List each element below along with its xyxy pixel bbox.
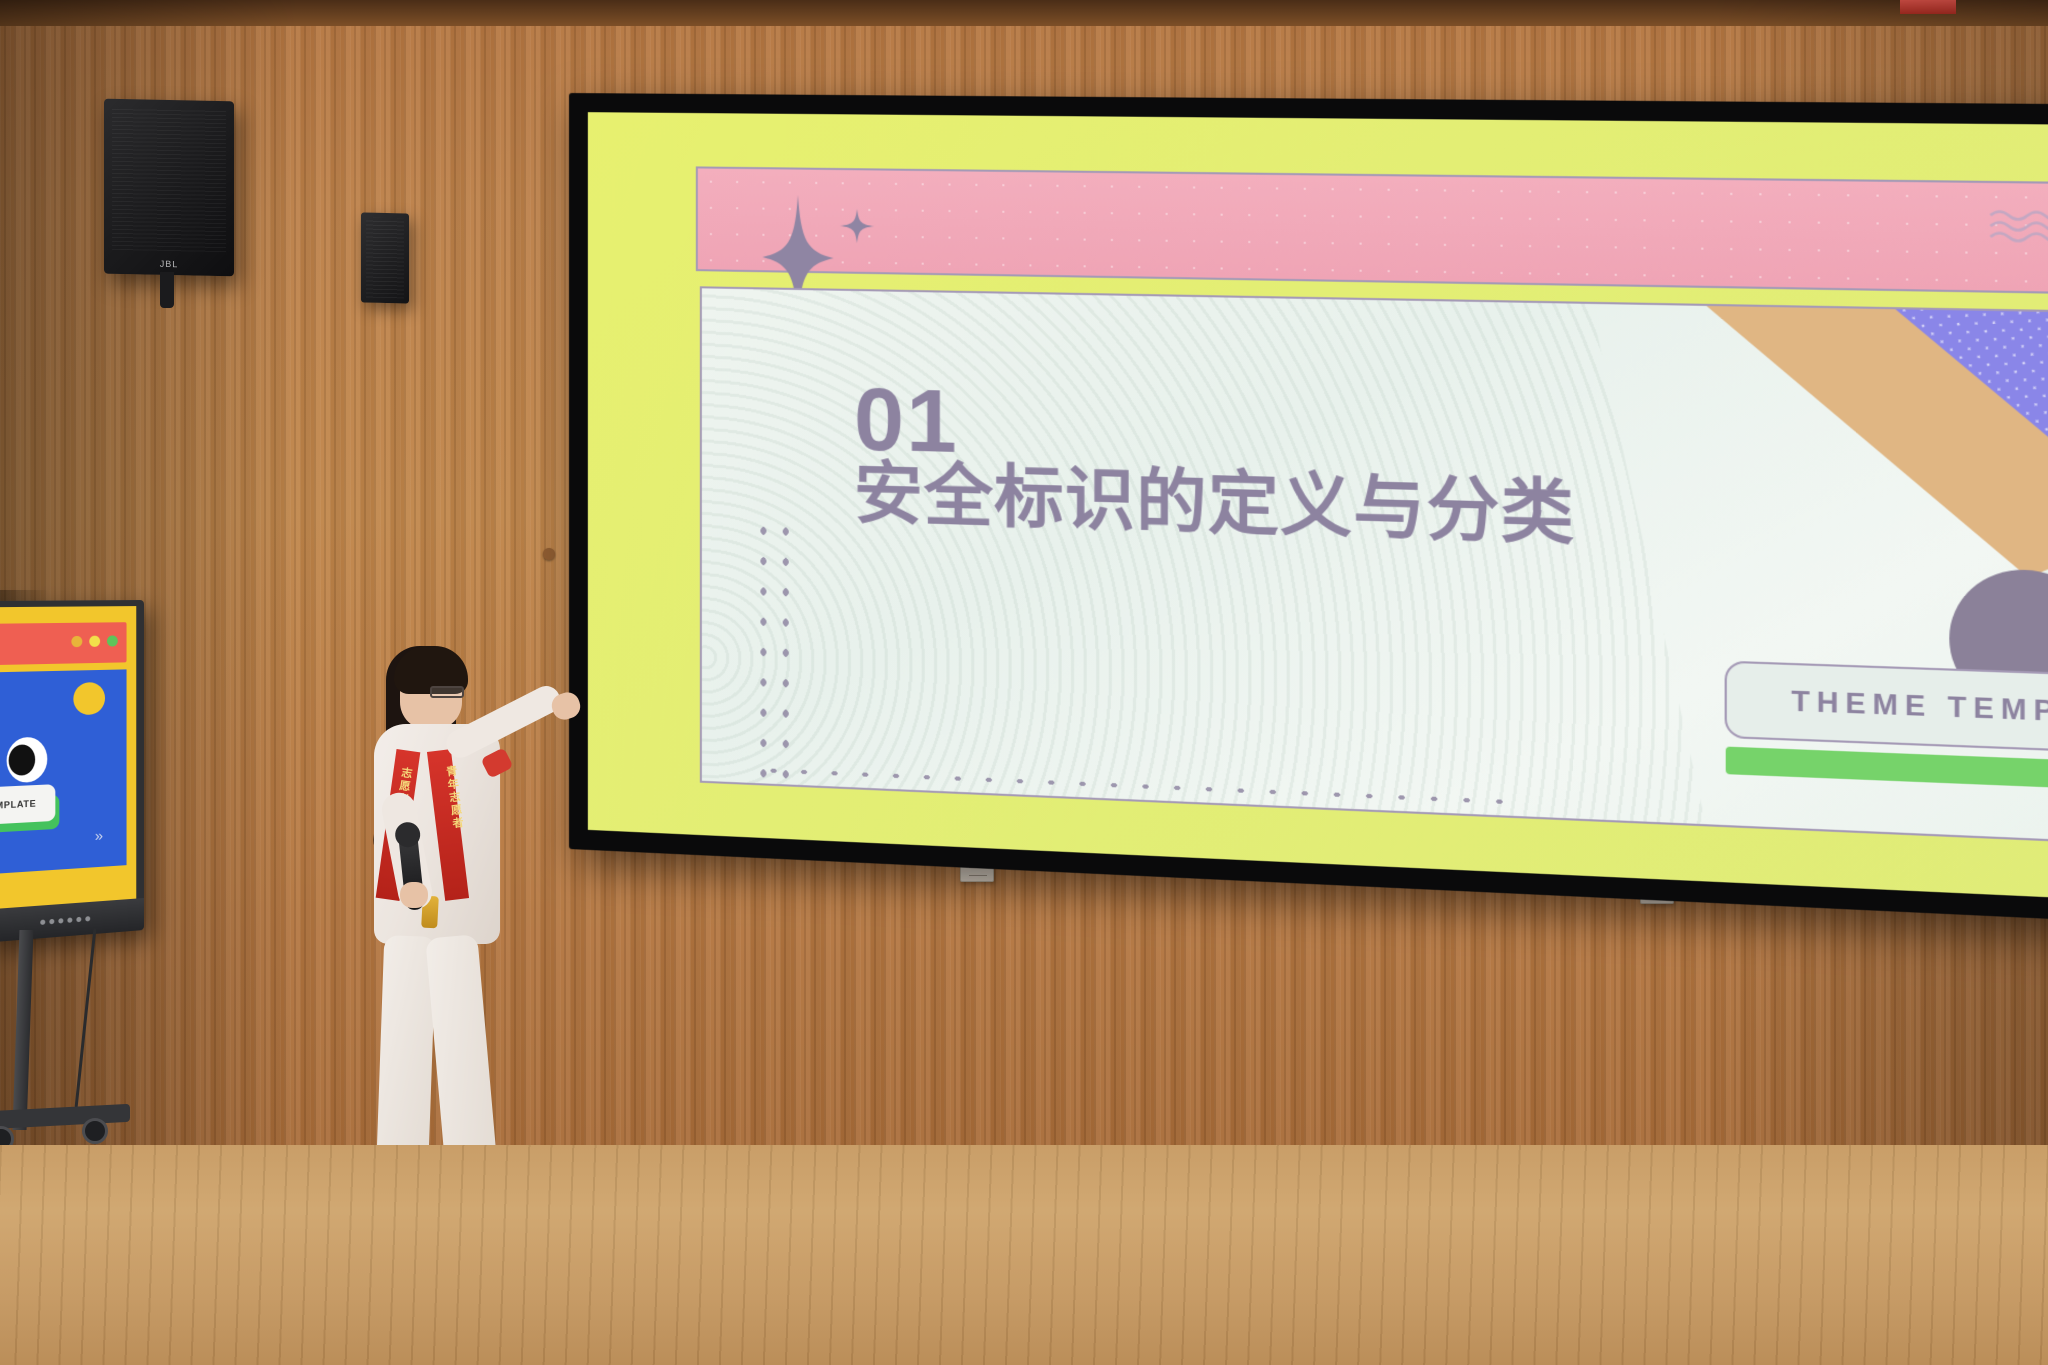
speaker-brand-label: JBL xyxy=(104,258,234,271)
wall-knob xyxy=(543,548,555,560)
wall-speaker-small xyxy=(361,212,409,303)
speaker-grille-small xyxy=(366,218,404,299)
slide-canvas: 01 安全标识的定义与分类 THEME TEMPLATE xyxy=(588,112,2048,902)
monitor-slide-body: THEME TEMPLATE » xyxy=(0,669,127,876)
sparkle-small-icon xyxy=(840,209,875,244)
monitor-slide-header xyxy=(0,622,127,666)
cart-caster-right xyxy=(82,1118,108,1144)
side-monitor-screen: THEME TEMPLATE » xyxy=(0,606,136,909)
banner-dot-texture xyxy=(698,168,2048,293)
auditorium-scene: JBL xyxy=(0,0,2048,1365)
ceiling-light-fixture xyxy=(1900,0,1956,14)
double-chevron-right-icon: » xyxy=(95,827,103,845)
speaker-mount-bracket xyxy=(160,272,174,308)
speaker-grille xyxy=(112,107,226,252)
wavy-lines-icon xyxy=(1988,208,2048,252)
wood-stage-floor xyxy=(0,1145,2048,1365)
dot-grid-bottom-decor xyxy=(758,759,1515,822)
slide-top-banner xyxy=(696,166,2048,296)
wall-speaker-large: JBL xyxy=(104,99,234,277)
monitor-indicator-lights xyxy=(71,635,117,647)
monitor-yellow-circle-decor xyxy=(73,682,105,715)
side-monitor-slide: THEME TEMPLATE » xyxy=(0,622,130,876)
ceiling-trim xyxy=(0,0,2048,26)
theme-template-badge[interactable]: THEME TEMPLATE xyxy=(1724,661,2048,758)
slide-section-number: 01 xyxy=(854,378,959,463)
cartoon-eye-right-icon xyxy=(7,737,48,784)
presenter-glasses xyxy=(430,686,464,698)
led-display-screen[interactable]: 01 安全标识的定义与分类 THEME TEMPLATE xyxy=(569,93,2048,924)
slide-title: 安全标识的定义与分类 xyxy=(854,455,1753,558)
slide-content-panel: 01 安全标识的定义与分类 THEME TEMPLATE xyxy=(700,286,2048,848)
side-monitor[interactable]: THEME TEMPLATE » xyxy=(0,600,144,943)
presenter-mic-hand xyxy=(400,882,428,908)
theme-accent-bar xyxy=(1726,747,2048,795)
